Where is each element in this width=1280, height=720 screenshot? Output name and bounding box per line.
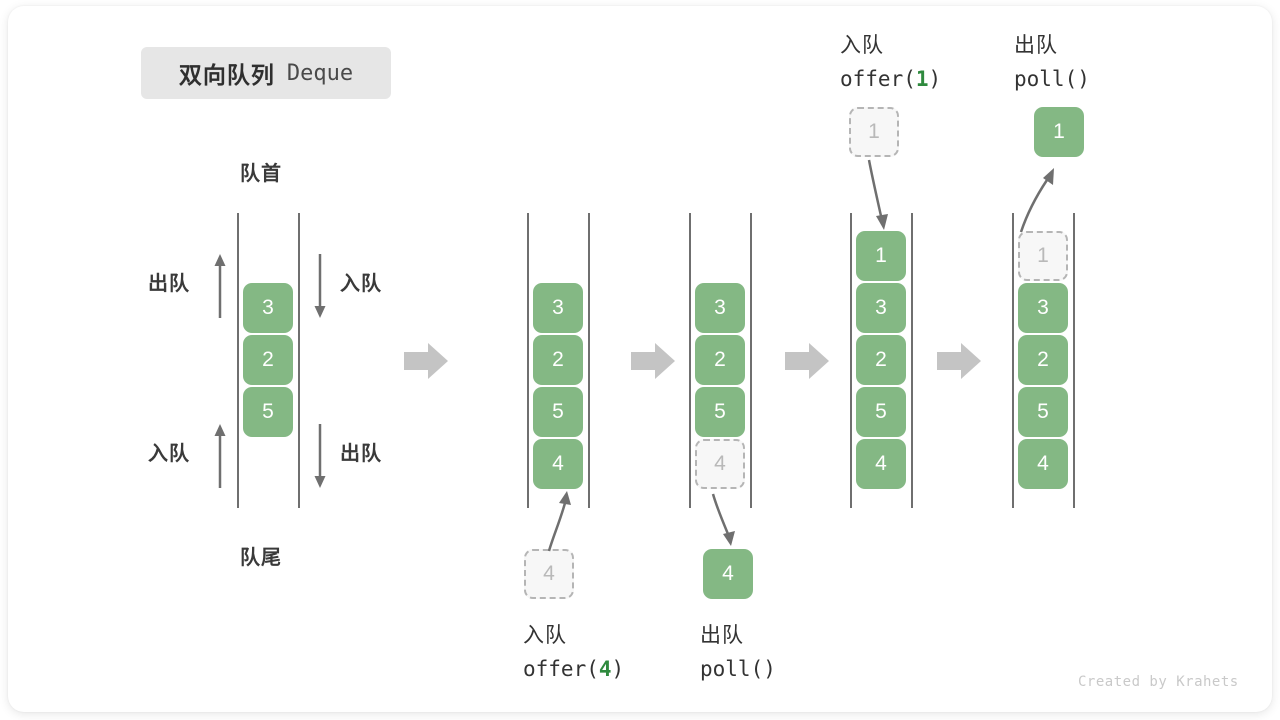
step-arrow-1-to-2-icon bbox=[404, 341, 448, 381]
panel4-code-prefix: offer( bbox=[840, 67, 916, 91]
panel1-tail-label: 队尾 bbox=[240, 541, 282, 570]
panel5-caption: 出队 poll() bbox=[1014, 30, 1090, 95]
panel4-item-0: 1 bbox=[856, 231, 906, 281]
panel2-rail-left bbox=[527, 213, 529, 508]
credit-text: Created by Krahets bbox=[1078, 674, 1239, 690]
panel1-arrow-dequeue-top-icon bbox=[208, 252, 232, 320]
panel5-item-3: 4 bbox=[1018, 439, 1068, 489]
panel2-rail-right bbox=[588, 213, 590, 508]
panel4-rail-left bbox=[850, 213, 852, 508]
panel5-caption-code: poll() bbox=[1014, 63, 1090, 96]
panel5-result-item: 1 bbox=[1034, 107, 1084, 157]
panel2-caption: 入队 offer(4) bbox=[523, 620, 624, 685]
panel3-code-suffix: ) bbox=[763, 657, 776, 681]
panel3-ghost-item: 4 bbox=[695, 439, 745, 489]
panel3-item-1: 2 bbox=[695, 335, 745, 385]
panel1-rail-left bbox=[237, 213, 239, 508]
panel5-rail-left bbox=[1012, 213, 1014, 508]
panel2-ghost-item: 4 bbox=[524, 549, 574, 599]
panel1-label-dequeue-bottom: 出队 bbox=[340, 437, 382, 466]
panel4-code-num: 1 bbox=[916, 67, 929, 91]
step-arrow-4-to-5-icon bbox=[937, 341, 981, 381]
title-english: Deque bbox=[287, 61, 353, 86]
panel5-caption-cn: 出队 bbox=[1014, 30, 1090, 63]
panel2-code-prefix: offer( bbox=[523, 657, 599, 681]
panel1-item-2: 5 bbox=[243, 387, 293, 437]
step-arrow-3-to-4-icon bbox=[785, 341, 829, 381]
panel4-item-3: 5 bbox=[856, 387, 906, 437]
panel2-code-suffix: ) bbox=[612, 657, 625, 681]
panel5-code-suffix: ) bbox=[1077, 67, 1090, 91]
panel3-item-2: 5 bbox=[695, 387, 745, 437]
panel2-item-3: 4 bbox=[533, 439, 583, 489]
panel1-arrow-enqueue-bottom-icon bbox=[208, 422, 232, 490]
panel2-caption-code: offer(4) bbox=[523, 653, 624, 686]
panel3-rail-right bbox=[750, 213, 752, 508]
panel3-caption-cn: 出队 bbox=[700, 620, 776, 653]
step-arrow-2-to-3-icon bbox=[631, 341, 675, 381]
panel3-code-prefix: poll( bbox=[700, 657, 763, 681]
title-chinese: 双向队列 bbox=[179, 56, 275, 90]
panel1-arrow-enqueue-top-icon bbox=[308, 252, 332, 320]
panel2-item-0: 3 bbox=[533, 283, 583, 333]
panel4-rail-right bbox=[911, 213, 913, 508]
diagram-stage: 双向队列 Deque 队首 队尾 3 2 5 出队 入队 入队 出队 3 2 5… bbox=[0, 0, 1280, 720]
panel1-item-0: 3 bbox=[243, 283, 293, 333]
panel5-code-prefix: poll( bbox=[1014, 67, 1077, 91]
panel3-result-item: 4 bbox=[703, 549, 753, 599]
panel5-item-0: 3 bbox=[1018, 283, 1068, 333]
panel1-rail-right bbox=[298, 213, 300, 508]
panel2-caption-cn: 入队 bbox=[523, 620, 624, 653]
panel1-item-1: 2 bbox=[243, 335, 293, 385]
title-badge: 双向队列 Deque bbox=[141, 47, 391, 99]
panel5-ghost-item: 1 bbox=[1018, 231, 1068, 281]
panel4-caption-code: offer(1) bbox=[840, 63, 941, 96]
panel2-item-2: 5 bbox=[533, 387, 583, 437]
panel2-code-num: 4 bbox=[599, 657, 612, 681]
panel3-item-0: 3 bbox=[695, 283, 745, 333]
panel3-rail-left bbox=[689, 213, 691, 508]
panel4-enqueue-curve-arrow-icon bbox=[845, 158, 925, 234]
panel5-item-2: 5 bbox=[1018, 387, 1068, 437]
panel4-item-4: 4 bbox=[856, 439, 906, 489]
panel2-item-1: 2 bbox=[533, 335, 583, 385]
panel4-ghost-item: 1 bbox=[849, 107, 899, 157]
panel4-caption-cn: 入队 bbox=[840, 30, 941, 63]
panel1-arrow-dequeue-bottom-icon bbox=[308, 422, 332, 490]
panel3-caption-code: poll() bbox=[700, 653, 776, 686]
panel4-code-suffix: ) bbox=[929, 67, 942, 91]
panel5-rail-right bbox=[1073, 213, 1075, 508]
panel3-caption: 出队 poll() bbox=[700, 620, 776, 685]
panel3-dequeue-curve-arrow-icon bbox=[690, 492, 770, 550]
panel2-enqueue-curve-arrow-icon bbox=[520, 485, 600, 555]
panel4-item-1: 3 bbox=[856, 283, 906, 333]
panel1-label-dequeue-top: 出队 bbox=[148, 267, 190, 296]
panel5-item-1: 2 bbox=[1018, 335, 1068, 385]
panel1-label-enqueue-top: 入队 bbox=[340, 267, 382, 296]
panel4-caption: 入队 offer(1) bbox=[840, 30, 941, 95]
panel1-head-label: 队首 bbox=[240, 157, 282, 186]
panel1-label-enqueue-bottom: 入队 bbox=[148, 437, 190, 466]
panel4-item-2: 2 bbox=[856, 335, 906, 385]
